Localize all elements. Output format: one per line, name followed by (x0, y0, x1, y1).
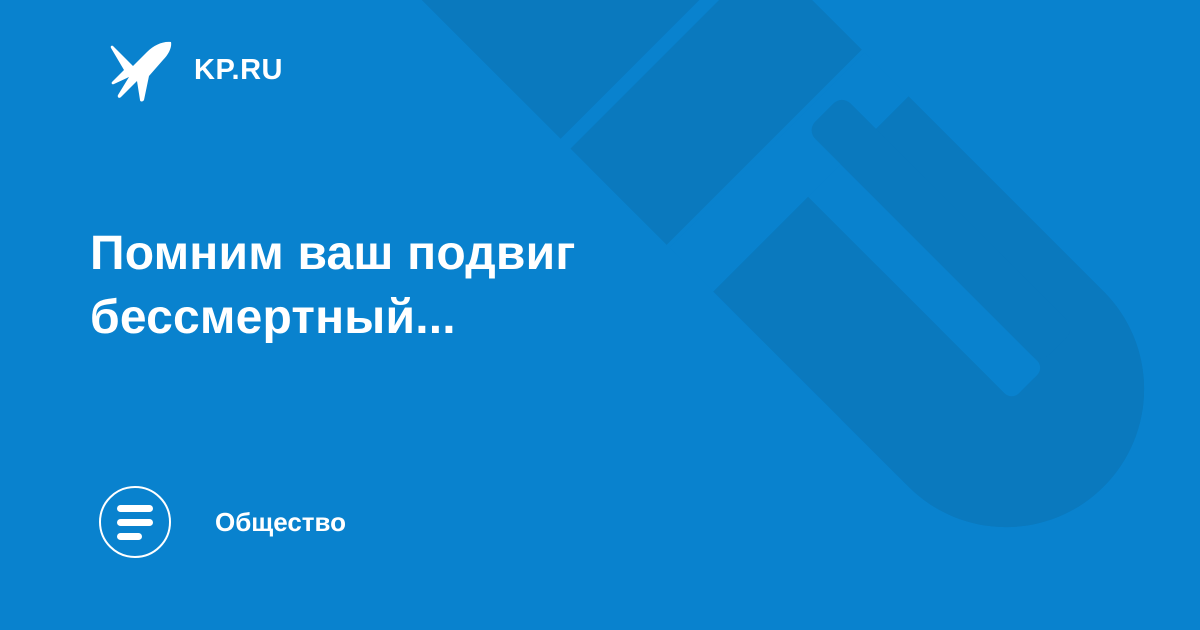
menu-bar-3 (117, 533, 142, 540)
brand-logo[interactable]: KP.RU (110, 38, 283, 102)
hamburger-menu-icon[interactable] (99, 486, 171, 558)
category-label: Общество (215, 509, 346, 535)
page-title: Помним ваш подвиг бессмертный... (90, 222, 730, 350)
menu-bar-2 (117, 519, 153, 526)
category-badge[interactable]: Общество (99, 486, 346, 558)
swallow-bird-icon (110, 38, 172, 102)
social-share-card: KP.RU Помним ваш подвиг бессмертный... О… (0, 0, 1200, 630)
brand-name: KP.RU (194, 56, 283, 85)
menu-bar-1 (117, 505, 153, 512)
